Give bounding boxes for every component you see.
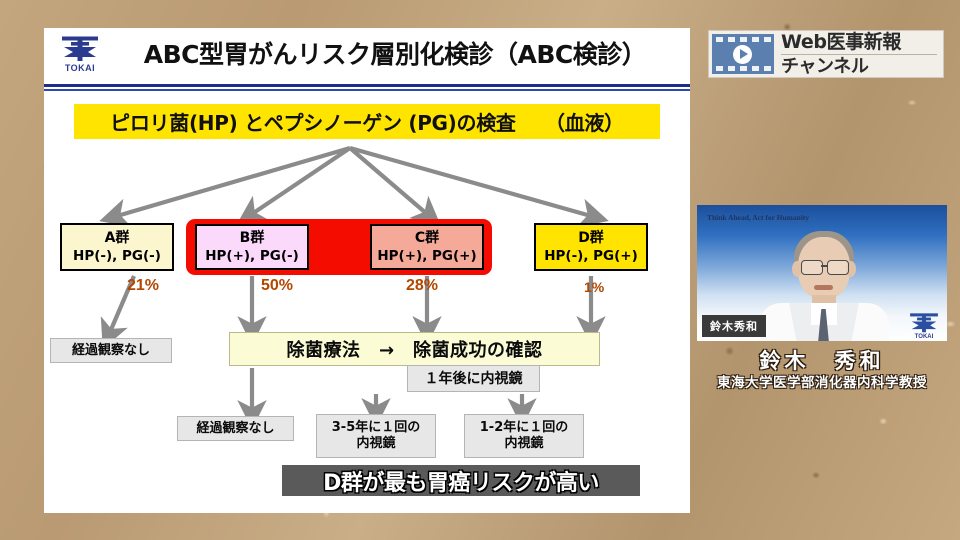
group-b-status: HP(+), PG(-) [205,247,299,265]
slide-title: ABC型胃がんリスク層別化検診（ABC検診） [110,34,680,76]
glasses-lens-right [827,260,849,275]
video-name-chip-text: 鈴木秀和 [710,320,758,333]
endoscopy-1to2year-line2: 内視鏡 [480,436,569,452]
conclusion-band: D群が最も胃癌リスクが高い [282,465,640,496]
group-c-name: C群 [415,230,439,247]
endoscopy-3to5year-line1: 3-5年に１回の [332,420,421,436]
tokai-logo: TOKAI [54,34,106,78]
speaker-caption: 鈴木 秀和 東海大学医学部消化器内科学教授 [697,348,947,392]
channel-brand-bar: Web医事新報 チャンネル [708,30,944,78]
header-rule-primary [44,84,690,87]
endoscopy-3to5year-box: 3-5年に１回の 内視鏡 [316,414,436,458]
group-box-c: C群 HP(+), PG(+) [370,224,484,270]
video-name-chip: 鈴木秀和 [702,315,766,337]
group-b-name: B群 [240,230,265,247]
glasses-lens-left [801,260,823,275]
glasses-bridge [821,265,827,267]
group-d-name: D群 [578,230,604,247]
channel-name-line2: チャンネル [781,56,943,77]
endoscopy-1to2year-line1: 1-2年に１回の [480,420,569,436]
endoscopy-1year-box: １年後に内視鏡 [407,365,540,392]
group-c-status: HP(+), PG(+) [377,247,476,265]
percent-group-a: 21% [127,277,159,295]
header-rule-secondary [44,89,690,91]
tokai-mark-icon [58,35,102,63]
group-a-name: A群 [105,230,130,247]
eradication-box: 除菌療法 → 除菌成功の確認 [229,332,600,366]
speaker-name: 鈴木 秀和 [697,348,947,374]
slide-header: TOKAI ABC型胃がんリスク層別化検診（ABC検診） [44,28,690,82]
speaker-title: 東海大学医学部消化器内科学教授 [697,374,947,392]
presentation-slide: TOKAI ABC型胃がんリスク層別化検診（ABC検診） ピロリ菌(HP) とペ… [44,28,690,513]
group-box-a: A群 HP(-), PG(-) [60,223,174,271]
endoscopy-1to2year-box: 1-2年に１回の 内視鏡 [464,414,584,458]
channel-name-line1: Web医事新報 [781,32,943,53]
percent-group-d: 1% [584,279,604,295]
observation-box-b: 経過観察なし [177,416,294,441]
speaker-video[interactable]: Think Ahead, Act for Humanity TOKAI 鈴木秀和 [697,205,947,341]
channel-divider [781,54,937,55]
tokai-logo-text: TOKAI [54,63,106,73]
speaker-mouth [814,285,833,290]
group-a-status: HP(-), PG(-) [73,247,161,265]
group-box-d: D群 HP(-), PG(+) [534,223,648,271]
conclusion-text: D群が最も胃癌リスクが高い [323,465,599,497]
test-banner: ピロリ菌(HP) とペプシノーゲン (PG)の検査 （血液） [74,104,660,139]
group-box-b: B群 HP(+), PG(-) [195,224,309,270]
film-play-icon [712,34,774,74]
video-tokai-logo-icon [907,310,941,336]
endoscopy-3to5year-line2: 内視鏡 [332,436,421,452]
observation-box-a: 経過観察なし [50,338,172,363]
percent-group-c: 28% [406,277,438,295]
percent-group-b: 50% [261,277,293,295]
group-d-status: HP(-), PG(+) [544,247,638,265]
video-slogan: Think Ahead, Act for Humanity [707,213,809,222]
video-tokai-logo-text: TOKAI [907,334,941,340]
